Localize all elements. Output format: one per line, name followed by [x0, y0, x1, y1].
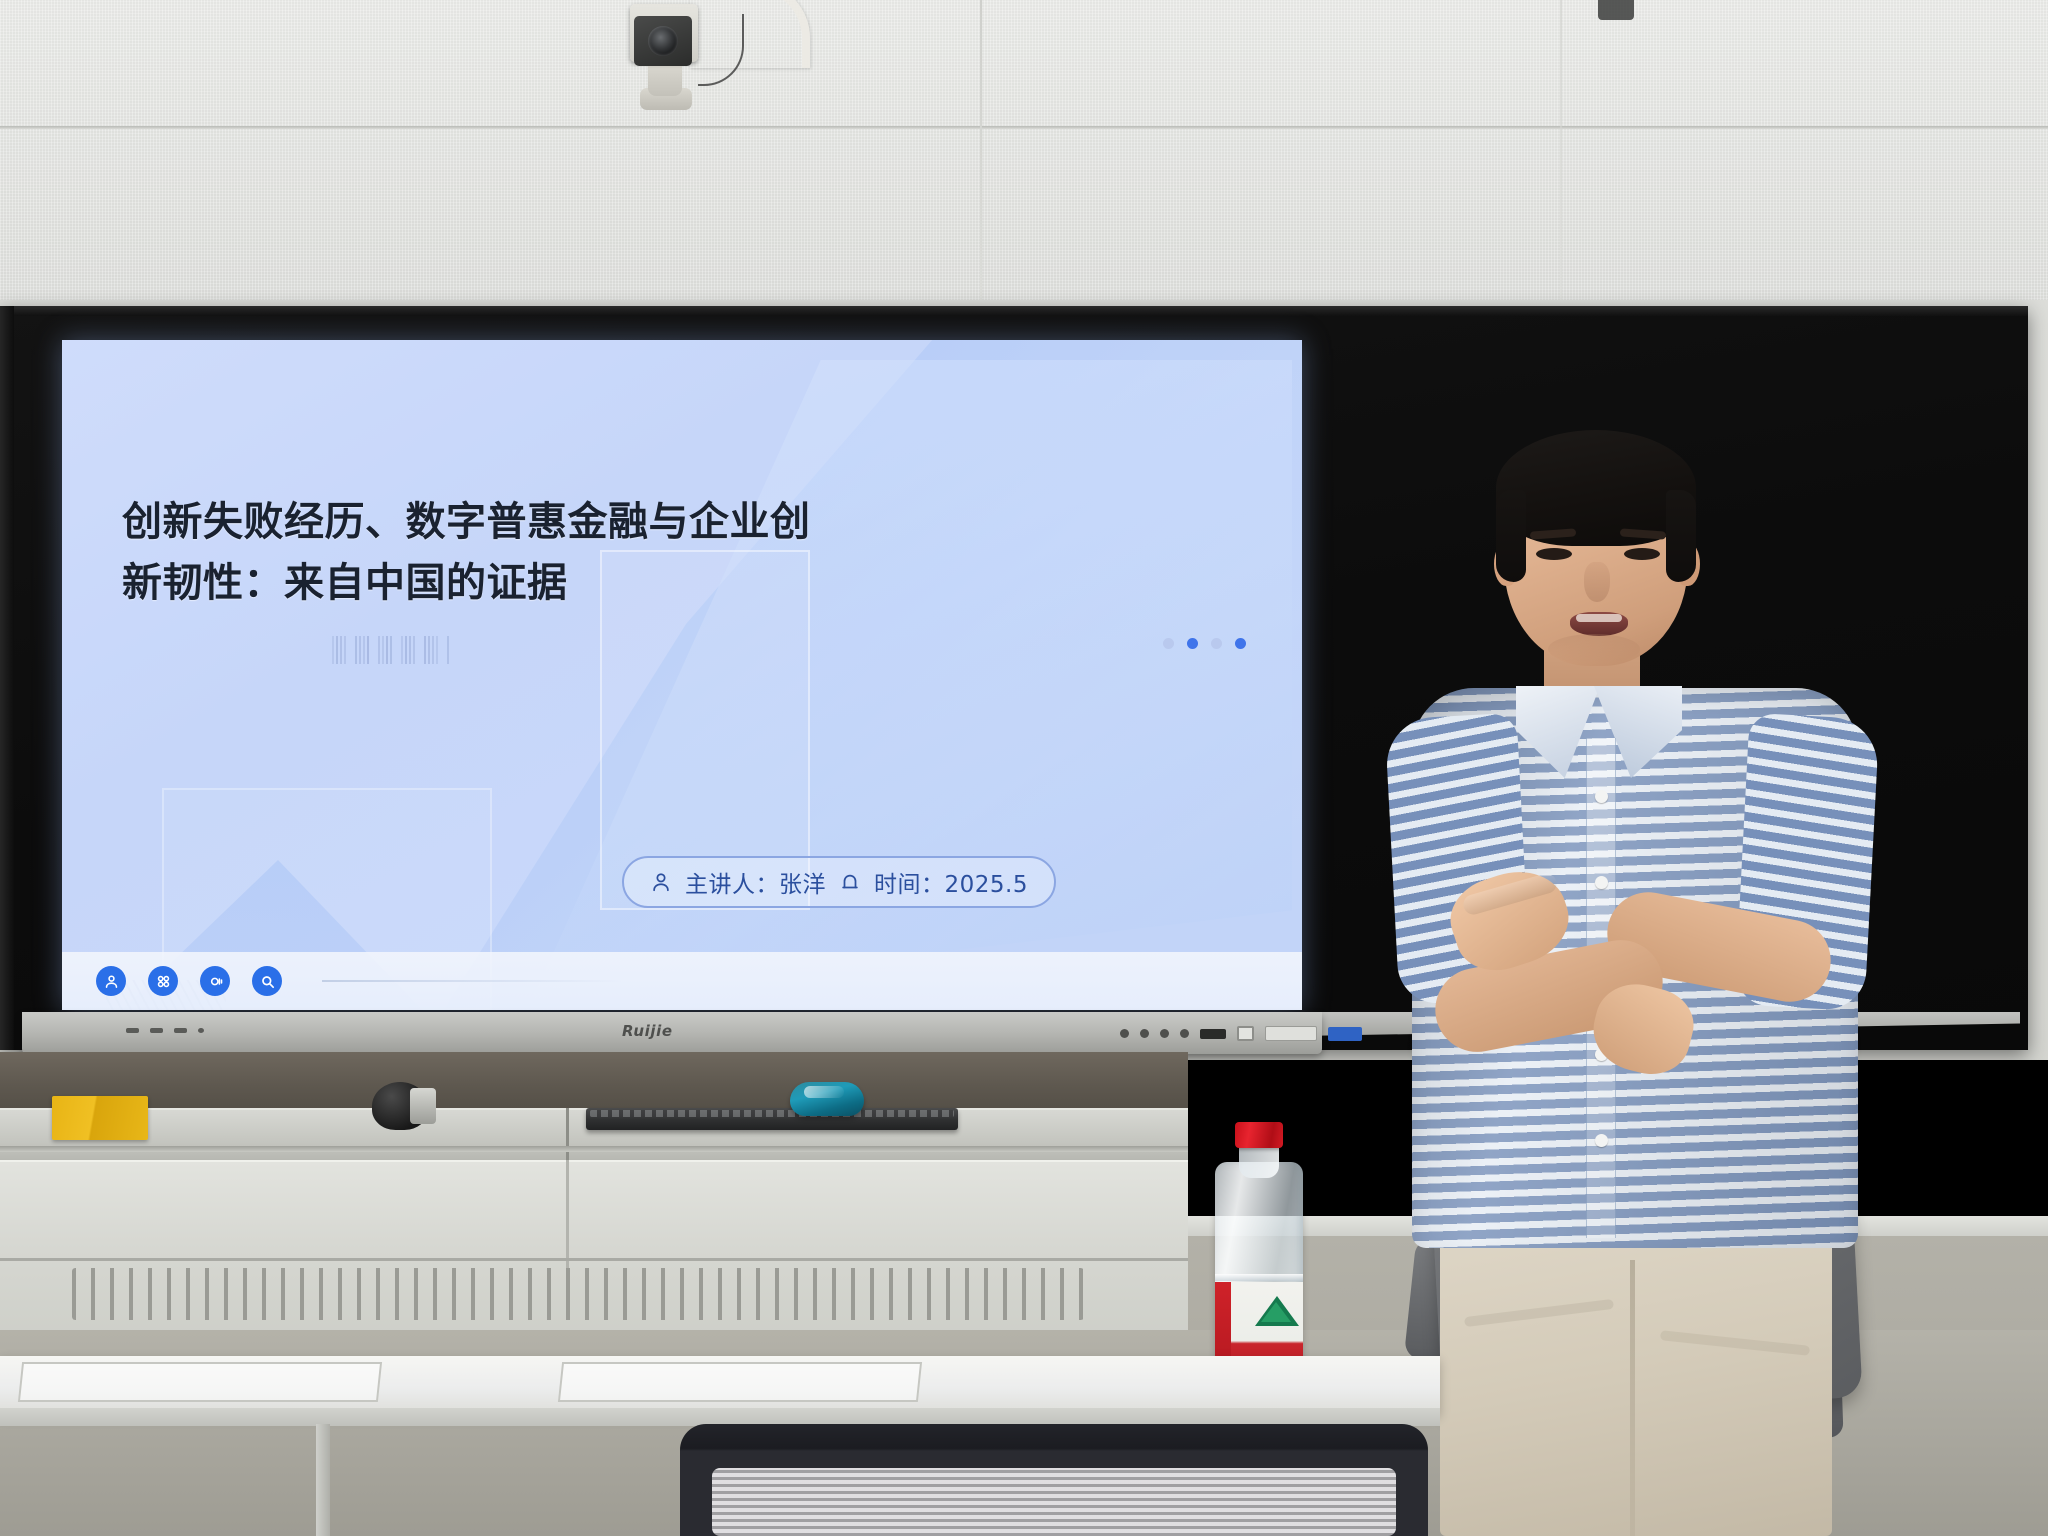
vent-1 [126, 1028, 139, 1033]
port-round-2[interactable] [1140, 1029, 1149, 1038]
teeth [1576, 614, 1622, 622]
barcode-bar [405, 636, 407, 664]
barcode-bar [413, 636, 415, 664]
barcode-bar [367, 636, 369, 664]
mountain-logo-inner-icon [1261, 1302, 1291, 1322]
classroom-scene: 创新失败经历、数字普惠金融与企业创 新韧性：来自中国的证据 主讲人：张洋 时间：… [0, 0, 2048, 1536]
board-top-edge [0, 306, 2028, 316]
display-bezel: Ruijie [22, 1012, 1322, 1054]
camera-lens [648, 26, 678, 56]
table-inset-left [18, 1362, 382, 1402]
brightness-icon[interactable] [200, 966, 230, 996]
slide-dots-decoration [1163, 638, 1246, 649]
apps-grid-icon[interactable] [148, 966, 178, 996]
bezel-ports[interactable] [1120, 1026, 1362, 1041]
security-camera [612, 0, 742, 106]
barcode-bar [332, 636, 334, 664]
barcode-bar [401, 636, 403, 664]
hair-side-left [1496, 490, 1526, 582]
barcode-bar [382, 636, 384, 664]
keyboard[interactable] [586, 1108, 958, 1130]
table-leg-left [316, 1424, 330, 1536]
slide-title: 创新失败经历、数字普惠金融与企业创 新韧性：来自中国的证据 [122, 492, 882, 614]
barcode-bar [447, 636, 449, 664]
bottle-cap [1235, 1122, 1283, 1148]
speaker-label: 主讲人：张洋 [685, 865, 826, 899]
slide-title-line-1: 创新失败经历、数字普惠金融与企业创 [122, 492, 882, 553]
blue-tag [1328, 1027, 1362, 1041]
eye-left [1536, 548, 1572, 560]
vent-2 [150, 1028, 163, 1033]
podium-body-seam [566, 1160, 569, 1280]
account-icon[interactable] [96, 966, 126, 996]
bell-icon [839, 870, 861, 894]
mouse[interactable] [790, 1082, 864, 1116]
shirt-button-1 [1595, 790, 1608, 803]
board-left-edge [0, 306, 14, 1050]
podium-deck-lip [0, 1146, 1188, 1152]
barcode-bar [436, 636, 438, 664]
person-icon [650, 870, 672, 894]
ceiling-seam-horizontal [0, 126, 2048, 129]
hdmi-port[interactable] [1237, 1026, 1254, 1041]
podium-edge [0, 1258, 1188, 1261]
bezel-vents [126, 1028, 204, 1033]
table-inset-right [558, 1362, 922, 1402]
time-label: 时间：2025.5 [874, 865, 1028, 899]
microphone-stub [410, 1088, 436, 1124]
trouser-crease [1630, 1260, 1635, 1536]
barcode-bar [390, 636, 392, 664]
barcode-bar [409, 636, 411, 664]
usb-port[interactable] [1200, 1029, 1226, 1039]
barcode-bar [428, 636, 430, 664]
port-round-1[interactable] [1120, 1029, 1129, 1038]
speaker-info-chip: 主讲人：张洋 时间：2025.5 [622, 856, 1056, 908]
dot-3 [1211, 638, 1222, 649]
presenter [1398, 438, 1868, 1536]
nose [1584, 562, 1610, 602]
port-label [1265, 1026, 1317, 1041]
barcode-bar [432, 636, 434, 664]
port-round-4[interactable] [1180, 1029, 1189, 1038]
front-chair-mesh [712, 1468, 1396, 1536]
ceiling-texture [0, 0, 2048, 308]
barcode-bar [355, 636, 357, 664]
barcode-bar [363, 636, 365, 664]
podium-deck-seam [566, 1108, 569, 1164]
search-icon[interactable] [252, 966, 282, 996]
yellow-box [52, 1096, 148, 1140]
shirt-button-2 [1595, 876, 1608, 889]
toolbar-divider [322, 980, 622, 982]
vent-4 [198, 1028, 204, 1033]
trousers [1440, 1228, 1832, 1536]
bottle-ring [1215, 1274, 1303, 1281]
vent-3 [174, 1028, 187, 1033]
podium-vent-grille [72, 1268, 1084, 1320]
slide-title-line-2: 新韧性：来自中国的证据 [122, 553, 882, 614]
screen-toolbar[interactable] [62, 952, 1302, 1010]
barcode-bar [359, 636, 361, 664]
hair-side-right [1666, 490, 1696, 582]
camera-wire [698, 14, 744, 86]
barcode-bar [378, 636, 380, 664]
ceiling-seam-vertical-2 [1560, 0, 1562, 308]
dot-2 [1187, 638, 1198, 649]
dot-4 [1235, 638, 1246, 649]
display-brand-logo: Ruijie [622, 1022, 673, 1040]
barcode-bar [424, 636, 426, 664]
eye-right [1624, 548, 1660, 560]
dot-1 [1163, 638, 1174, 649]
ceiling [0, 0, 2048, 308]
barcode-bar [340, 636, 342, 664]
slide-barcode-decoration [332, 636, 454, 664]
barcode-bar [344, 636, 346, 664]
chin-shadow [1548, 634, 1640, 664]
ceiling-bracket [1598, 0, 1634, 20]
interactive-display-screen[interactable]: 创新失败经历、数字普惠金融与企业创 新韧性：来自中国的证据 主讲人：张洋 时间：… [62, 340, 1302, 1010]
podium-back-panel [0, 1052, 1188, 1114]
ceiling-seam-vertical [980, 0, 982, 308]
shirt-button-5 [1595, 1134, 1608, 1147]
barcode-bar [386, 636, 388, 664]
port-round-3[interactable] [1160, 1029, 1169, 1038]
barcode-bar [336, 636, 338, 664]
